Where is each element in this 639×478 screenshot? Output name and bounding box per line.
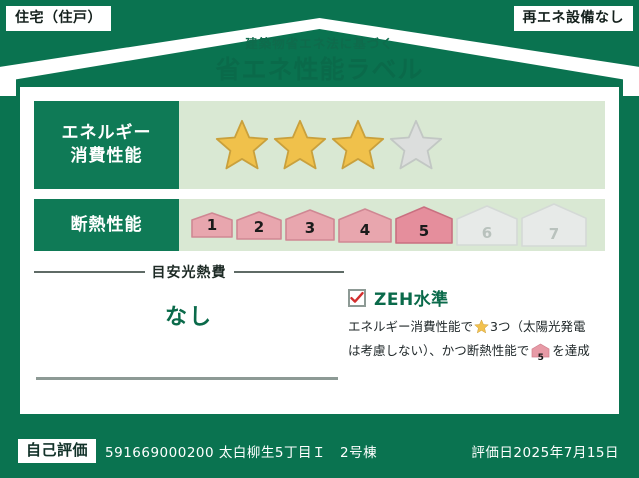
insulation-level-badge: 3 — [285, 209, 335, 241]
insulation-level-value: 1 — [191, 216, 233, 234]
energy-label-line1: エネルギー — [62, 122, 152, 145]
star-icon-filled — [331, 118, 385, 172]
zeh-desc-star-count: 3つ（太陽光発電 — [490, 319, 585, 334]
footer-identifier: 591669000200 太白柳生5丁目Ｉ 2号棟 — [105, 441, 377, 461]
footer-bar: 自己評価 591669000200 太白柳生5丁目Ｉ 2号棟 評価日2025年7… — [0, 423, 639, 478]
tag-renewable-energy: 再エネ設備なし — [514, 6, 634, 31]
star-icon-inline — [474, 319, 489, 341]
star-icon-filled — [215, 118, 269, 172]
check-icon — [350, 291, 364, 305]
utility-cost-label: 目安光熱費 — [152, 262, 227, 282]
insulation-level-badge: 5 — [395, 206, 453, 244]
insulation-level-badge: 2 — [236, 211, 282, 240]
insulation-level-badge: 6 — [456, 205, 518, 246]
footer-id: 591669000200 — [105, 445, 214, 461]
insulation-level-value: 5 — [395, 222, 453, 240]
tag-building-type: 住宅（住戸） — [6, 6, 111, 31]
zeh-desc-part1: エネルギー消費性能で — [348, 319, 473, 334]
bottom-divider — [36, 377, 338, 380]
zeh-desc-part3: を達成 — [552, 343, 590, 358]
star-icon-empty — [389, 118, 443, 172]
insulation-performance-row: 断熱性能 1234567 — [34, 199, 605, 251]
zeh-description: エネルギー消費性能で3つ（太陽光発電は考慮しない）、かつ断熱性能で5を達成 — [348, 317, 604, 364]
star-rating — [215, 118, 443, 172]
insulation-level-value: 6 — [456, 224, 518, 242]
label-card: エネルギー 消費性能 断熱性能 1234567 目安光熱費 なし — [17, 84, 622, 417]
page-main-title: 省エネ性能ラベル — [0, 57, 639, 83]
divider-right — [234, 271, 345, 273]
zeh-title-row: ZEH水準 — [348, 285, 604, 310]
insulation-level-value: 2 — [236, 218, 282, 236]
insulation-level-value: 4 — [338, 221, 392, 239]
footer-address: 太白柳生5丁目Ｉ 2号棟 — [219, 445, 377, 461]
insulation-level-scale: 1234567 — [179, 199, 605, 251]
zeh-block: ZEH水準 エネルギー消費性能で3つ（太陽光発電は考慮しない）、かつ断熱性能で5… — [348, 285, 604, 364]
zeh-title-text: ZEH水準 — [374, 285, 449, 310]
star-icon-filled — [273, 118, 327, 172]
zeh-checkbox[interactable] — [348, 289, 366, 307]
divider-left — [34, 271, 145, 273]
energy-label-line2: 消費性能 — [71, 145, 143, 168]
page-subtitle: 建築物省エネ法に基づく — [0, 38, 639, 51]
insulation-level-value: 3 — [285, 219, 335, 237]
insulation-level-value: 7 — [521, 225, 587, 243]
insulation-badge-inline-value: 5 — [531, 354, 550, 363]
footer-evaluation-date: 評価日2025年7月15日 — [471, 441, 619, 461]
footer-evaluation-badge: 自己評価 — [18, 439, 96, 463]
page-title: 建築物省エネ法に基づく 省エネ性能ラベル — [0, 38, 639, 83]
zeh-desc-part2: は考慮しない）、かつ断熱性能で — [348, 343, 529, 358]
energy-performance-label: エネルギー 消費性能 — [34, 101, 179, 189]
utility-cost-heading: 目安光熱費 — [34, 263, 344, 281]
insulation-level-badge: 1 — [191, 212, 233, 238]
insulation-level-badge: 7 — [521, 203, 587, 247]
insulation-performance-label: 断熱性能 — [34, 199, 179, 251]
utility-cost-value: なし — [34, 299, 344, 331]
energy-performance-value — [179, 101, 605, 189]
insulation-level-badge: 4 — [338, 208, 392, 243]
insulation-badge-inline: 5 — [531, 343, 550, 365]
energy-performance-row: エネルギー 消費性能 — [34, 101, 605, 189]
